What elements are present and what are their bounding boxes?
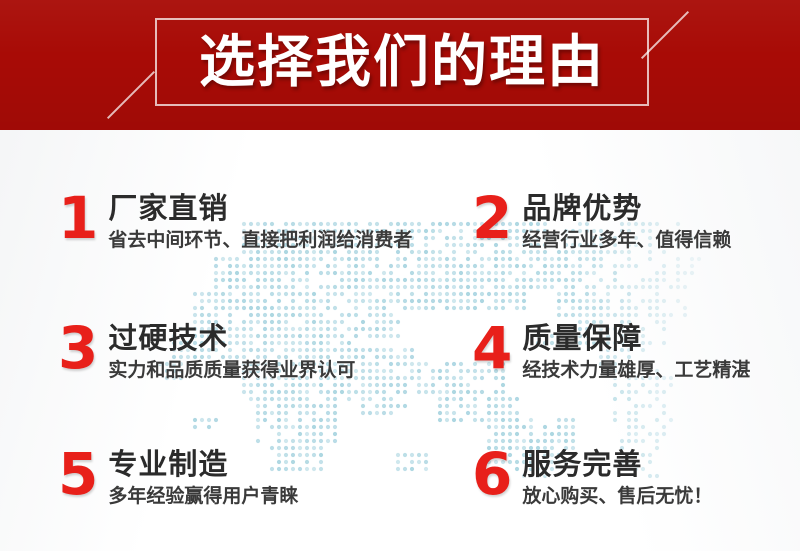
feature-text-4: 质量保障 经技术力量雄厚、工艺精湛	[522, 322, 750, 383]
content-area: 1 厂家直销 省去中间环节、直接把利润给消费者 2 品牌优势 经营行业多年、值得…	[0, 130, 800, 551]
feature-item-1: 1 厂家直销 省去中间环节、直接把利润给消费者	[58, 192, 412, 253]
feature-item-5: 5 专业制造 多年经验赢得用户青睐	[58, 448, 298, 509]
feature-number-6: 6	[472, 448, 512, 501]
feature-title-3: 过硬技术	[108, 324, 355, 355]
feature-item-2: 2 品牌优势 经营行业多年、值得信赖	[472, 192, 731, 253]
feature-item-6: 6 服务完善 放心购买、售后无忧！	[472, 448, 712, 509]
feature-item-3: 3 过硬技术 实力和品质质量获得业界认可	[58, 322, 355, 383]
header-banner: 选择我们的理由	[0, 0, 800, 130]
diagonal-slash-bottom-left-icon	[107, 71, 155, 119]
feature-text-5: 专业制造 多年经验赢得用户青睐	[108, 448, 298, 509]
feature-number-1: 1	[58, 192, 98, 245]
feature-subtitle-5: 多年经验赢得用户青睐	[108, 485, 298, 509]
feature-item-4: 4 质量保障 经技术力量雄厚、工艺精湛	[472, 322, 750, 383]
feature-subtitle-3: 实力和品质质量获得业界认可	[108, 359, 355, 383]
feature-number-2: 2	[472, 192, 512, 245]
promo-banner-page: 选择我们的理由 1 厂家直销 省去中间环节、直接把利润给消费者 2	[0, 0, 800, 551]
feature-title-6: 服务完善	[522, 450, 712, 481]
feature-text-3: 过硬技术 实力和品质质量获得业界认可	[108, 322, 355, 383]
feature-subtitle-2: 经营行业多年、值得信赖	[522, 229, 731, 253]
feature-subtitle-1: 省去中间环节、直接把利润给消费者	[108, 229, 412, 253]
feature-subtitle-4: 经技术力量雄厚、工艺精湛	[522, 359, 750, 383]
feature-text-2: 品牌优势 经营行业多年、值得信赖	[522, 192, 731, 253]
feature-title-4: 质量保障	[522, 324, 750, 355]
feature-number-3: 3	[58, 322, 98, 375]
feature-title-2: 品牌优势	[522, 194, 731, 225]
feature-number-4: 4	[472, 322, 512, 375]
feature-text-1: 厂家直销 省去中间环节、直接把利润给消费者	[108, 192, 412, 253]
page-title: 选择我们的理由	[155, 18, 649, 106]
feature-list: 1 厂家直销 省去中间环节、直接把利润给消费者 2 品牌优势 经营行业多年、值得…	[0, 130, 800, 551]
feature-title-5: 专业制造	[108, 450, 298, 481]
feature-text-6: 服务完善 放心购买、售后无忧！	[522, 448, 712, 509]
feature-title-1: 厂家直销	[108, 194, 412, 225]
feature-subtitle-6: 放心购买、售后无忧！	[522, 485, 712, 509]
feature-number-5: 5	[58, 448, 98, 501]
